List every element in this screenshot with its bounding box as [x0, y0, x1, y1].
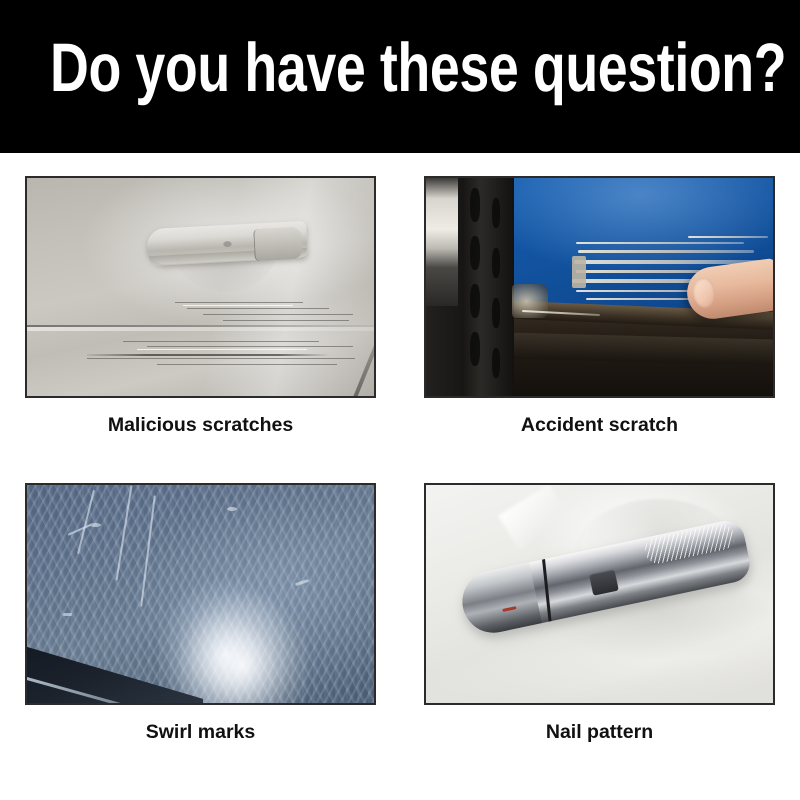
- tyre-tread: [492, 348, 500, 378]
- body-crease-line-lower: [87, 354, 327, 356]
- scratch-line-light: [137, 349, 307, 350]
- tyre-tread: [470, 236, 480, 270]
- tyre-tread: [492, 298, 500, 328]
- product-infographic: Do you have these question?: [0, 0, 800, 800]
- card-malicious-scratches: Malicious scratches: [25, 176, 376, 398]
- scratch-line: [688, 236, 768, 238]
- body-crease-highlight: [27, 327, 374, 331]
- handle-seam-line: [542, 555, 552, 625]
- tyre-tread: [470, 332, 480, 366]
- scratch-line: [87, 358, 355, 359]
- header-banner: Do you have these question?: [0, 0, 800, 153]
- sun-reflection: [173, 590, 312, 705]
- scratch-streak: [63, 613, 72, 616]
- card-caption: Swirl marks: [25, 721, 376, 743]
- page-title: Do you have these question?: [50, 33, 630, 102]
- scratch-streak: [227, 507, 237, 511]
- keyless-entry-button[interactable]: [589, 569, 619, 596]
- tyre-tread: [492, 198, 500, 228]
- scratch-line: [147, 346, 353, 347]
- scratch-line: [157, 364, 337, 365]
- photo-malicious-scratches: [25, 176, 376, 398]
- scratch-impact-point: [572, 256, 586, 288]
- photo-accident-scratch: [424, 176, 775, 398]
- tyre-tread: [492, 248, 500, 278]
- card-caption: Nail pattern: [424, 721, 775, 743]
- scratch-line: [578, 250, 754, 253]
- tyre-tread: [470, 284, 480, 318]
- scratch-line: [123, 341, 319, 342]
- photo-nail-pattern: [424, 483, 775, 705]
- scratch-line: [187, 308, 329, 309]
- fingernail: [691, 277, 717, 310]
- scratch-streak: [89, 523, 101, 527]
- door-handle-cap: [253, 227, 303, 261]
- scratch-line: [203, 314, 353, 315]
- card-nail-pattern: Nail pattern: [424, 483, 775, 705]
- card-caption: Malicious scratches: [25, 414, 376, 436]
- scratch-line: [576, 242, 744, 244]
- card-swirl-marks: Swirl marks: [25, 483, 376, 705]
- scratch-line: [175, 302, 303, 303]
- door-lower-sheen: [426, 657, 773, 703]
- wheel-rim: [426, 178, 458, 306]
- photo-swirl-marks: [25, 483, 376, 705]
- scratch-line-light: [183, 305, 293, 306]
- door-lock-keyhole: [223, 240, 232, 247]
- scratch-line: [223, 320, 349, 321]
- card-accident-scratch: Accident scratch: [424, 176, 775, 398]
- tyre-tread: [470, 188, 480, 222]
- card-caption: Accident scratch: [424, 414, 775, 436]
- tyre: [426, 178, 514, 396]
